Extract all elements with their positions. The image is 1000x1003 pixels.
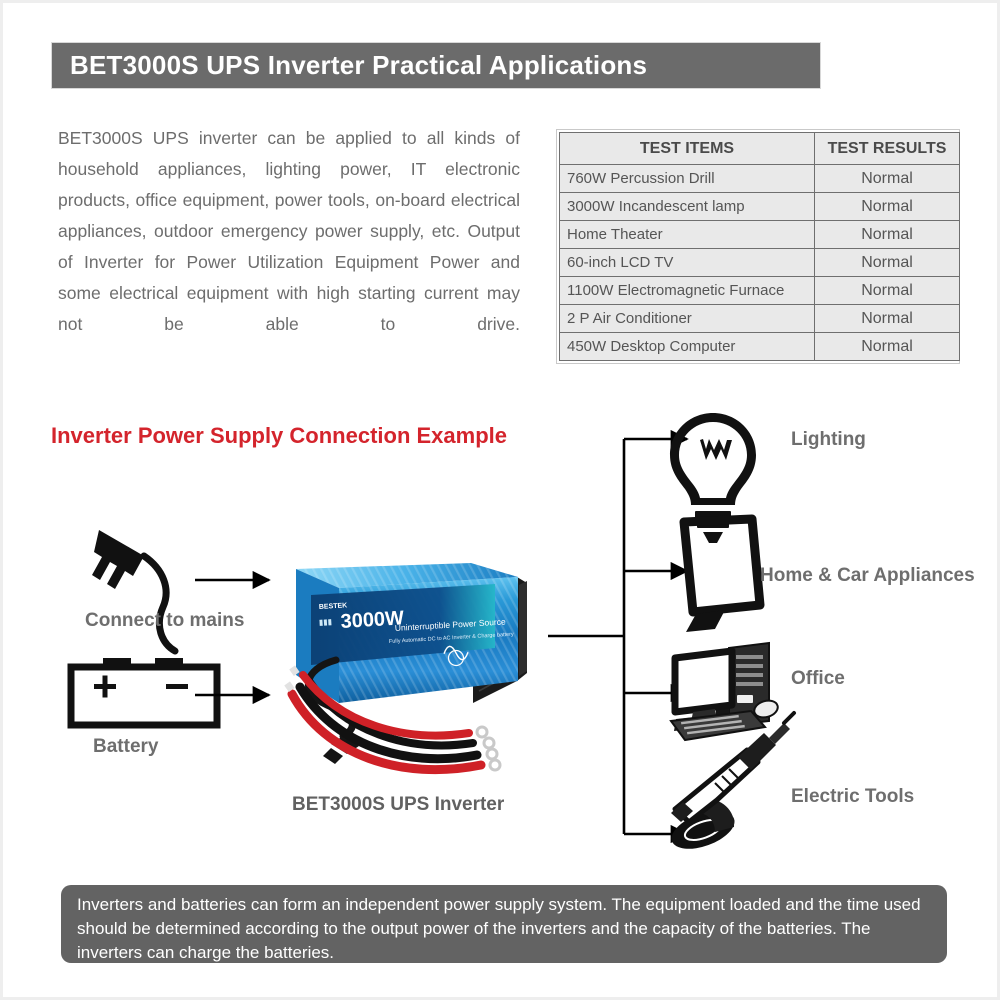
label-lighting: Lighting bbox=[791, 429, 866, 451]
label-product-caption: BET3000S UPS Inverter bbox=[292, 794, 504, 816]
connection-diagram: BESTEK 3000W ▮▮▮ Uninterruptible Power S… bbox=[3, 3, 1000, 1003]
svg-text:▮▮▮: ▮▮▮ bbox=[319, 617, 333, 627]
television-icon bbox=[684, 519, 760, 632]
desktop-computer-icon bbox=[671, 643, 780, 740]
infographic-page: BET3000S UPS Inverter Practical Applicat… bbox=[0, 0, 1000, 1000]
footer-note-banner: Inverters and batteries can form an inde… bbox=[61, 885, 947, 963]
power-plug-icon bbox=[92, 530, 175, 651]
inverter-product-image: BESTEK 3000W ▮▮▮ Uninterruptible Power S… bbox=[284, 563, 527, 770]
label-connect-to-mains: Connect to mains bbox=[85, 610, 244, 632]
label-home-car-appliances: Home & Car Appliances bbox=[760, 565, 975, 587]
battery-icon bbox=[71, 658, 217, 725]
label-office: Office bbox=[791, 668, 845, 690]
label-battery: Battery bbox=[93, 736, 158, 758]
label-electric-tools: Electric Tools bbox=[791, 786, 914, 808]
diagram-graphics: BESTEK 3000W ▮▮▮ Uninterruptible Power S… bbox=[3, 3, 1000, 1003]
output-branch-tree bbox=[548, 439, 624, 834]
footer-note-text: Inverters and batteries can form an inde… bbox=[77, 893, 931, 965]
